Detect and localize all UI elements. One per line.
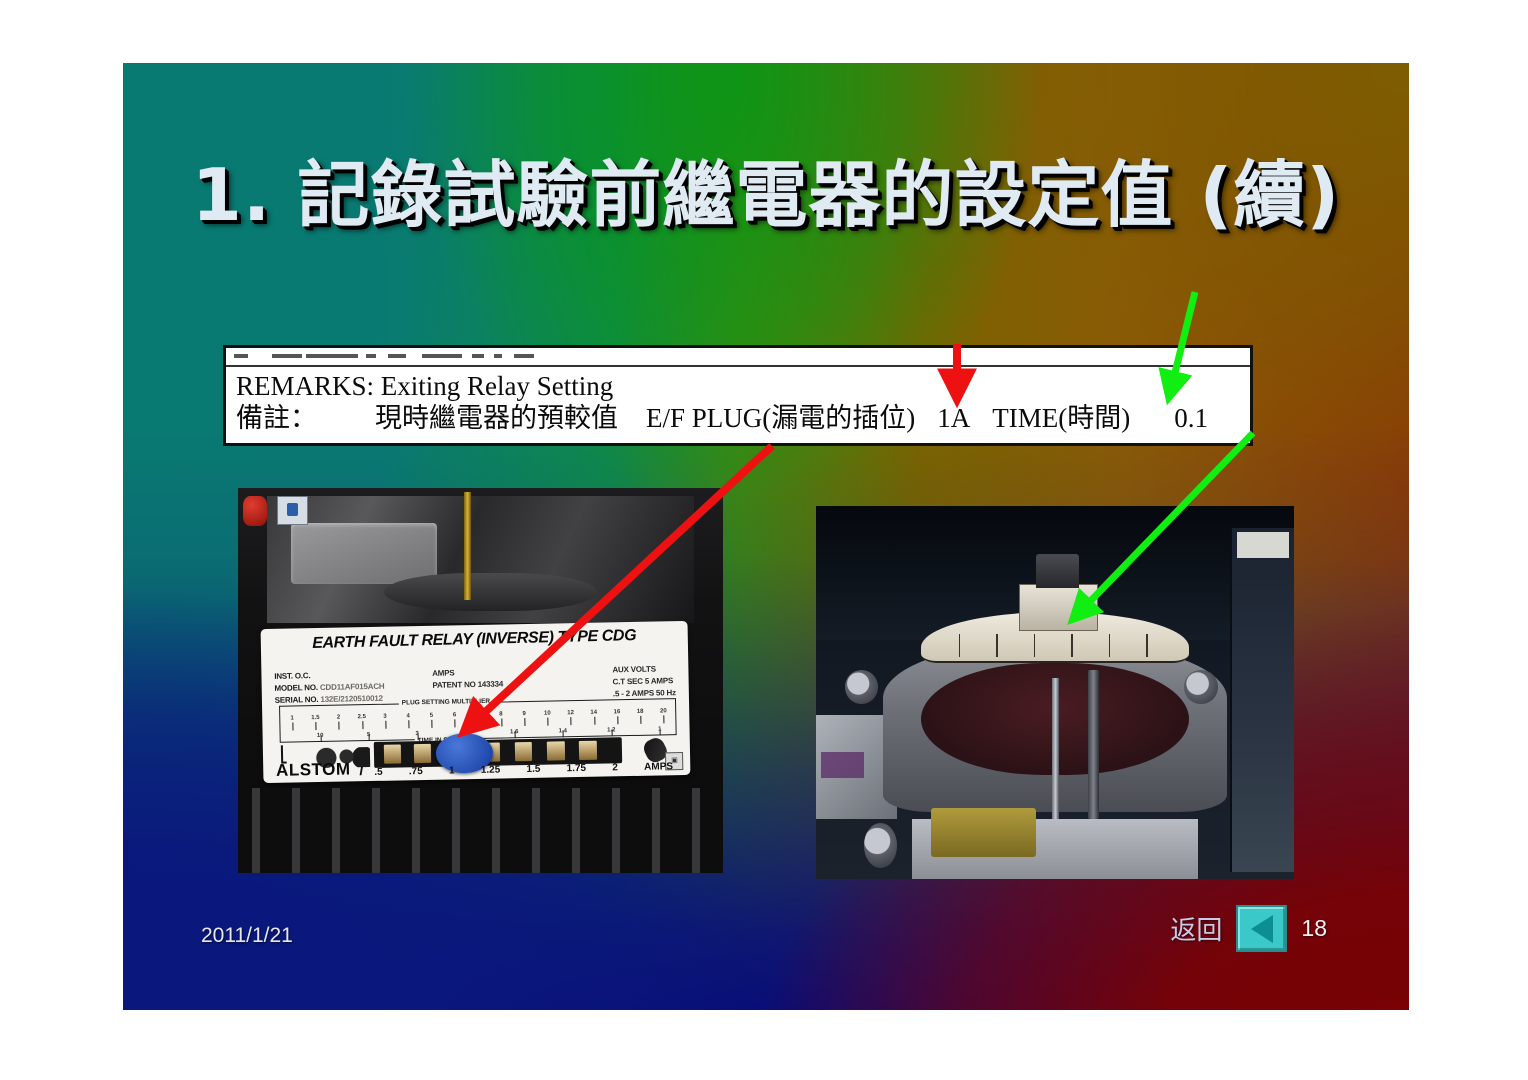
remarks-value-time: 0.1: [1174, 403, 1208, 435]
plug-setting-unit: AMPS: [644, 761, 673, 773]
dial-base-bolt: [864, 823, 897, 868]
photo-time-multiplier-dial: [816, 506, 1294, 879]
footer-date: 2011/1/21: [201, 924, 293, 948]
time-tick-label: 1.4: [559, 728, 567, 734]
nameplate-ct-sec: C.T SEC 5 AMPS: [613, 674, 676, 687]
dial-purple-wiring: [821, 752, 864, 778]
nameplate-left-column: INST. O.C. MODEL NO. CDD11AF015ACH SERIA…: [274, 668, 385, 706]
remarks-field-time: TIME(時間): [992, 403, 1130, 435]
dial-yellow-component: [931, 808, 1036, 856]
remarks-description-cn: 現時繼電器的預較值: [375, 403, 618, 435]
plug-setting-value: 1.5: [527, 763, 541, 774]
dial-reset-rod: [1088, 670, 1099, 819]
time-tick-label: 5: [367, 732, 370, 738]
remarks-field-ef-plug: E/F PLUG(漏電的插位): [646, 403, 915, 435]
dial-spindle: [1052, 678, 1060, 827]
nameplate-right-column: AUX VOLTS C.T SEC 5 AMPS .5 - 2 AMPS 50 …: [613, 662, 677, 699]
footer-navigation: 返回 18: [1170, 905, 1327, 952]
plug-setting-value: 1.25: [481, 764, 501, 775]
nameplate-current-symbol: I: [359, 763, 363, 778]
psm-tick-label: 4: [407, 713, 410, 719]
plug-setting-value: 1: [449, 765, 455, 776]
psm-tick-label: 7: [476, 712, 479, 718]
remarks-line-chinese: 備註： 現時繼電器的預較值 E/F PLUG(漏電的插位) 1A TIME(時間…: [236, 403, 1240, 435]
remarks-value-ef-plug: 1A: [937, 403, 970, 435]
relay-brass-spindle: [464, 492, 471, 600]
psm-tick-label: 16: [614, 709, 621, 715]
psm-tick-label: 12: [567, 710, 574, 716]
time-tick-label: 1: [658, 727, 661, 733]
nameplate-serial-label: SERIAL NO.: [275, 694, 319, 704]
nameplate-serial-value: 132E/2120510012: [321, 693, 384, 703]
back-button[interactable]: [1236, 905, 1287, 952]
psm-tick-label: 2: [337, 714, 340, 720]
nameplate-brand: ALSTOM: [276, 760, 351, 781]
photo-relay-front-nameplate: EARTH FAULT RELAY (INVERSE) TYPE CDG INS…: [238, 488, 723, 873]
psm-tick-label: 1.5: [311, 715, 319, 721]
time-tick-label: 1.2: [607, 727, 615, 733]
dial-right-label: [1237, 532, 1290, 558]
dial-bolt-right: [1184, 670, 1217, 704]
slide-title: 1. 記錄試驗前繼電器的設定值 (續): [123, 158, 1409, 234]
psm-tick-label: 5: [430, 713, 433, 719]
relay-blue-label: [277, 496, 308, 525]
dial-right-panel: [1230, 528, 1294, 871]
back-label: 返回: [1170, 910, 1222, 947]
remarks-label-cn: 備註：: [236, 403, 317, 435]
plug-setting-value: .5: [374, 766, 383, 777]
page-number: 18: [1301, 915, 1327, 942]
relay-contact-bracket: [291, 523, 437, 585]
psm-scale-label: PLUG SETTING MULTIPLIER: [399, 697, 493, 706]
psm-tick-label: 9: [523, 711, 526, 717]
remarks-table: REMARKS: Exiting Relay Setting 備註： 現時繼電器…: [223, 345, 1253, 446]
psm-tick-label: 2.5: [358, 714, 366, 720]
psm-tick-label: 1: [291, 715, 294, 721]
nameplate-model-label: MODEL NO.: [275, 682, 319, 692]
psm-tick-label: 3: [384, 713, 387, 719]
cropped-row-above: [226, 348, 1250, 367]
psm-tick-label: 8: [499, 711, 502, 717]
nameplate-amps-label: AMPS: [432, 666, 503, 679]
nameplate-title: EARTH FAULT RELAY (INVERSE) TYPE CDG: [261, 626, 688, 654]
relay-terminal-block: [238, 788, 723, 873]
time-multiplier-pointer[interactable]: [1019, 584, 1097, 631]
plug-setting-value: 2: [612, 762, 618, 773]
psm-tick-label: 10: [544, 710, 551, 716]
slide-canvas: 1. 記錄試驗前繼電器的設定值 (續) REMARKS: Exiting Rel…: [123, 63, 1409, 1010]
nameplate-aux-volts: AUX VOLTS: [613, 662, 676, 675]
remarks-line-english: REMARKS: Exiting Relay Setting: [236, 371, 1240, 403]
relay-nameplate: EARTH FAULT RELAY (INVERSE) TYPE CDG INS…: [261, 621, 691, 783]
psm-tick-label: 14: [591, 709, 598, 715]
psm-tick-label: 20: [660, 708, 667, 714]
time-tick-label: 3: [416, 731, 419, 737]
plug-setting-value: 1.75: [567, 762, 587, 773]
dial-top-cap: [1036, 554, 1079, 588]
relay-induction-disc: [384, 573, 597, 612]
psm-tick-label: 18: [637, 709, 644, 715]
nameplate-patent: PATENT NO 143334: [433, 678, 504, 691]
time-tick-label: 10: [317, 733, 324, 739]
relay-red-indicator: [243, 496, 267, 527]
psm-tick-label: 6: [453, 712, 456, 718]
dial-bolt-left: [845, 670, 878, 704]
nameplate-model-value: CDD11AF015ACH: [320, 681, 385, 691]
time-tick-label: 1.6: [510, 729, 518, 735]
nameplate-middle-column: AMPS PATENT NO 143334: [432, 666, 503, 691]
left-triangle-icon: [1251, 915, 1273, 943]
plug-setting-value: .75: [409, 766, 423, 777]
